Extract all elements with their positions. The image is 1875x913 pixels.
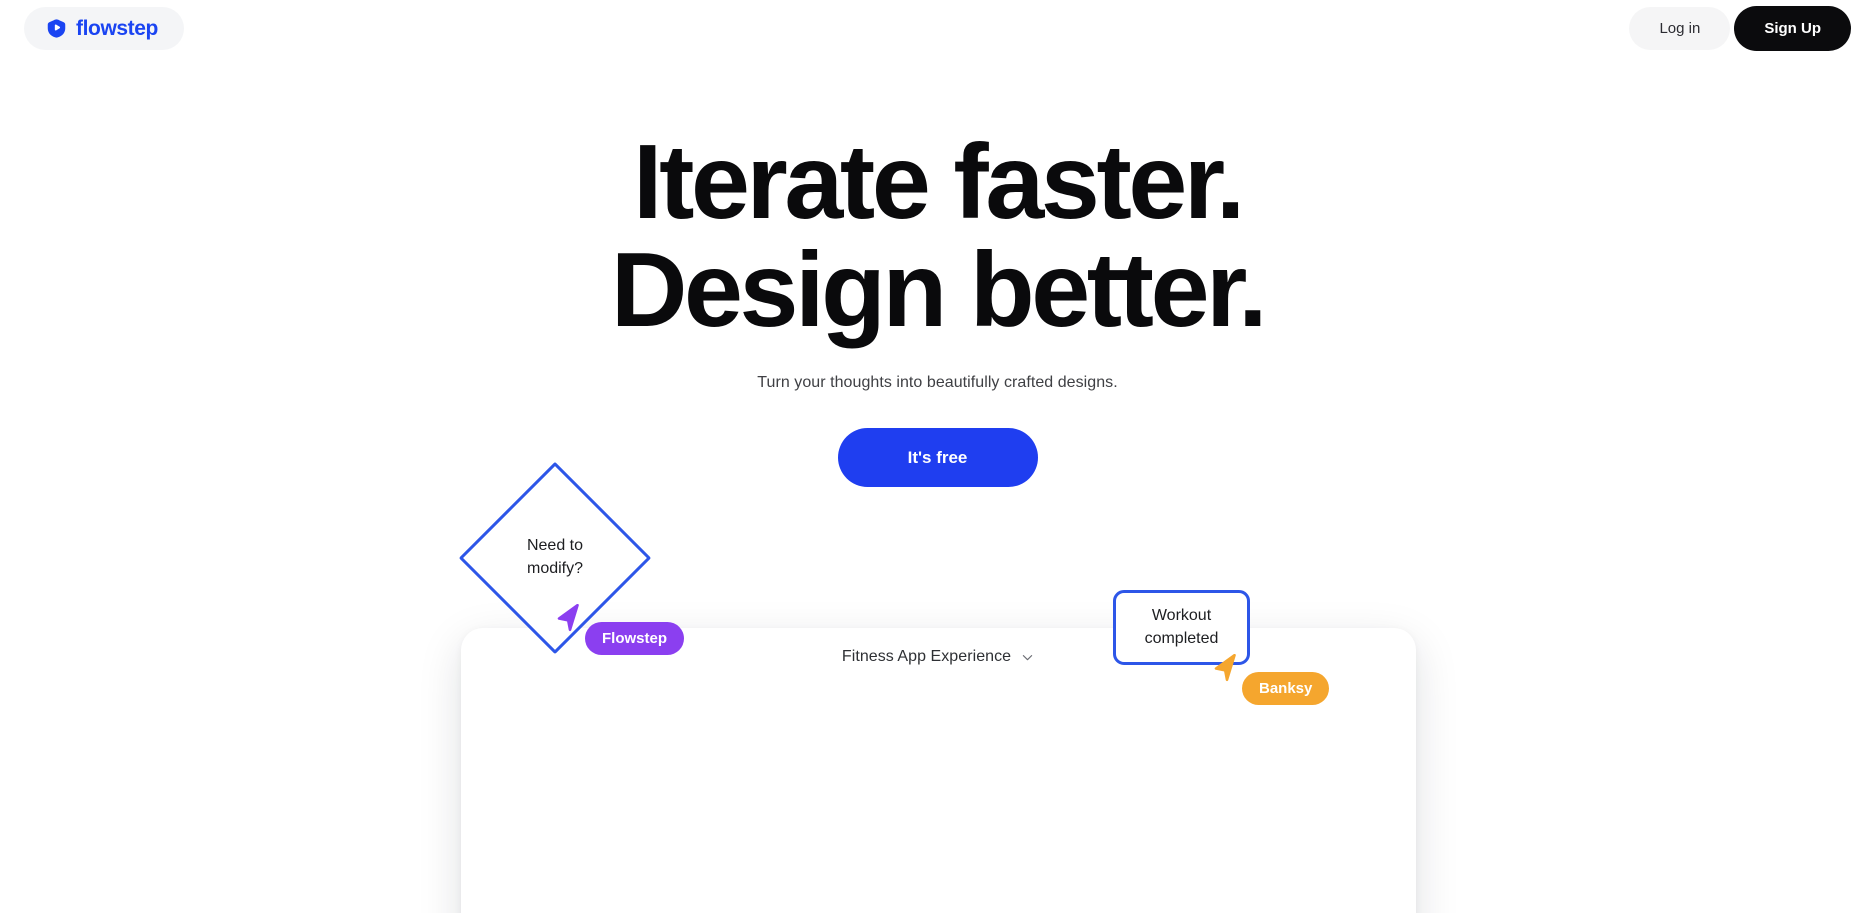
diamond-label: Need to modify? <box>487 490 623 626</box>
page-title: Iterate faster. Design better. <box>0 128 1875 344</box>
annotation-diamond-need-to-modify[interactable]: Need to modify? <box>487 490 623 626</box>
rect-label-line-1: Workout <box>1152 605 1211 628</box>
its-free-cta-button[interactable]: It's free <box>838 428 1038 487</box>
page-title-line-2: Design better. <box>0 236 1875 344</box>
flowstep-logo[interactable]: flowstep <box>24 7 184 50</box>
diamond-label-line-2: modify? <box>527 558 583 581</box>
page-subtitle: Turn your thoughts into beautifully craf… <box>0 374 1875 392</box>
hero-section: Iterate faster. Design better. Turn your… <box>0 0 1875 487</box>
design-canvas-card[interactable]: Fitness App Experience <box>461 628 1416 913</box>
diamond-label-line-1: Need to <box>527 535 583 558</box>
cta-container: It's free <box>0 428 1875 487</box>
page-title-line-1: Iterate faster. <box>0 128 1875 236</box>
cursor-name-label: Banksy <box>1242 672 1329 705</box>
header-actions: Log in Sign Up <box>1629 6 1851 51</box>
chevron-down-icon[interactable] <box>1020 650 1035 665</box>
canvas-title-label: Fitness App Experience <box>842 648 1011 666</box>
cursor-name-label: Flowstep <box>585 622 684 655</box>
top-navigation-bar: flowstep Log in Sign Up <box>0 0 1875 56</box>
logo-wordmark: flowstep <box>76 18 158 39</box>
flowstep-shield-play-icon <box>46 18 67 39</box>
login-button[interactable]: Log in <box>1629 7 1730 50</box>
rect-label-line-2: completed <box>1145 628 1219 651</box>
signup-button[interactable]: Sign Up <box>1734 6 1851 51</box>
